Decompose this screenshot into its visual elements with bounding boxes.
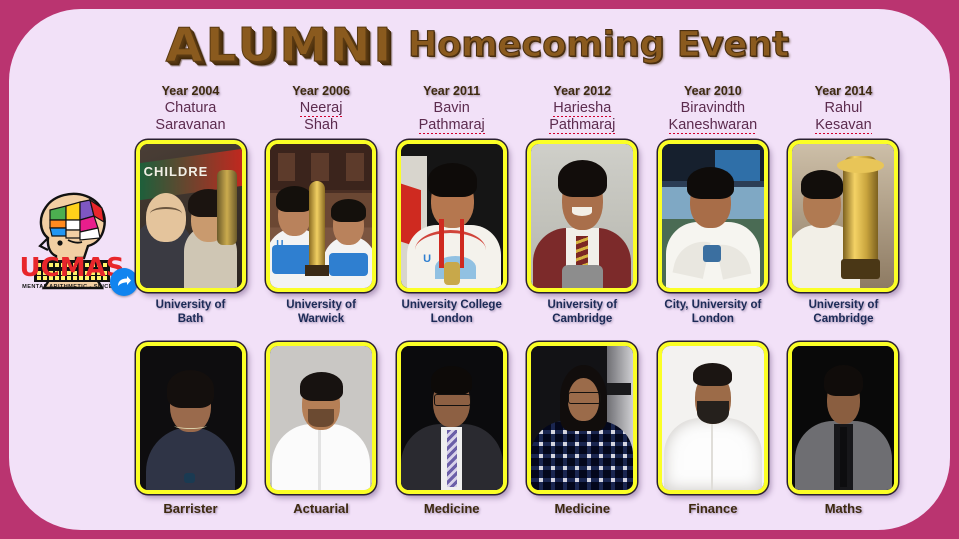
university-line-2: Cambridge xyxy=(552,313,612,325)
alumni-last-name: Kesavan xyxy=(815,117,871,134)
alumni-then-photo[interactable]: U xyxy=(266,140,376,292)
alumni-now-photo[interactable] xyxy=(788,342,898,494)
alumni-year: Year 2011 xyxy=(423,84,480,99)
university-line-2: Cambridge xyxy=(813,313,873,325)
university-line-2: London xyxy=(692,313,734,325)
alumni-then-photo[interactable] xyxy=(527,140,637,292)
alumni-then-photo[interactable] xyxy=(788,140,898,292)
university-line-1: University of xyxy=(547,299,617,311)
alumni-column-rahul-kesavan: Year 2014 Rahul Kesavan University of Ca… xyxy=(785,84,902,534)
alumni-year: Year 2014 xyxy=(815,84,873,99)
logo-tagline: MENTAL ARITHMETIC - SINCE 19 xyxy=(20,284,124,290)
alumni-now-photo[interactable] xyxy=(527,342,637,494)
alumni-career: Actuarial xyxy=(293,501,349,516)
university-line-2: Warwick xyxy=(298,313,344,325)
alumni-career: Barrister xyxy=(163,501,217,516)
alumni-last-name: Kaneshwaran xyxy=(669,117,758,134)
alumni-grid: Year 2004 Chatura Saravanan CHILDRE xyxy=(132,84,902,534)
alumni-career: Maths xyxy=(825,501,863,516)
poster-title: ALUMNIHomecoming Event xyxy=(0,18,959,72)
alumni-year: Year 2004 xyxy=(162,84,220,99)
alumni-name: Neeraj Shah xyxy=(300,100,343,134)
alumni-first-name: Neeraj xyxy=(300,100,343,117)
alumni-now-photo[interactable] xyxy=(136,342,246,494)
alumni-name: Hariesha Pathmaraj xyxy=(549,100,615,134)
alumni-first-name: Bavin xyxy=(434,100,470,116)
university-line-2: London xyxy=(431,313,473,325)
alumni-year: Year 2006 xyxy=(292,84,350,99)
forward-arrow-icon xyxy=(115,273,133,291)
alumni-name: Rahul Kesavan xyxy=(815,100,871,134)
alumni-name: Bavin Pathmaraj xyxy=(419,100,485,134)
alumni-university: University of Warwick xyxy=(286,299,356,326)
alumni-poster: ALUMNIHomecoming Event xyxy=(0,0,959,539)
alumni-university: University of Cambridge xyxy=(809,299,879,326)
alumni-then-photo[interactable]: CHILDRE xyxy=(136,140,246,292)
alumni-then-photo[interactable]: U xyxy=(397,140,507,292)
alumni-university: University College London xyxy=(402,299,502,326)
alumni-university: City, University of London xyxy=(664,299,761,326)
university-line-2: Bath xyxy=(178,313,204,325)
alumni-first-name: Chatura xyxy=(165,100,217,116)
alumni-last-name: Saravanan xyxy=(155,117,225,133)
alumni-now-photo[interactable] xyxy=(397,342,507,494)
alumni-column-chatura-saravanan: Year 2004 Chatura Saravanan CHILDRE xyxy=(132,84,249,534)
university-line-1: City, University of xyxy=(664,299,761,311)
alumni-column-bavin-pathmaraj: Year 2011 Bavin Pathmaraj U xyxy=(393,84,510,534)
alumni-first-name: Rahul xyxy=(825,100,863,116)
alumni-career: Medicine xyxy=(424,501,480,516)
alumni-then-photo[interactable] xyxy=(658,140,768,292)
alumni-year: Year 2012 xyxy=(553,84,611,99)
alumni-career: Finance xyxy=(688,501,737,516)
alumni-first-name: Biravindth xyxy=(681,100,745,116)
alumni-now-photo[interactable] xyxy=(266,342,376,494)
university-line-1: University of xyxy=(809,299,879,311)
university-line-1: University of xyxy=(286,299,356,311)
alumni-column-biravindth-kaneshwaran: Year 2010 Biravindth Kaneshwaran Ci xyxy=(654,84,771,534)
alumni-name: Biravindth Kaneshwaran xyxy=(669,100,758,134)
alumni-last-name: Pathmaraj xyxy=(549,117,615,134)
alumni-first-name: Hariesha xyxy=(553,100,611,117)
university-line-1: University of xyxy=(156,299,226,311)
alumni-university: University of Bath xyxy=(156,299,226,326)
alumni-now-photo[interactable] xyxy=(658,342,768,494)
page-title: ALUMNI xyxy=(166,18,395,72)
alumni-last-name: Pathmaraj xyxy=(419,117,485,134)
university-line-1: University College xyxy=(402,299,502,311)
page-subtitle: Homecoming Event xyxy=(408,25,789,65)
alumni-column-neeraj-shah: Year 2006 Neeraj Shah U xyxy=(263,84,380,534)
alumni-year: Year 2010 xyxy=(684,84,742,99)
alumni-career: Medicine xyxy=(554,501,610,516)
alumni-name: Chatura Saravanan xyxy=(155,100,225,134)
ucmas-wordmark: UCMAS xyxy=(20,253,125,283)
alumni-last-name: Shah xyxy=(304,117,338,133)
alumni-column-hariesha-pathmaraj: Year 2012 Hariesha Pathmaraj Univer xyxy=(524,84,641,534)
alumni-university: University of Cambridge xyxy=(547,299,617,326)
